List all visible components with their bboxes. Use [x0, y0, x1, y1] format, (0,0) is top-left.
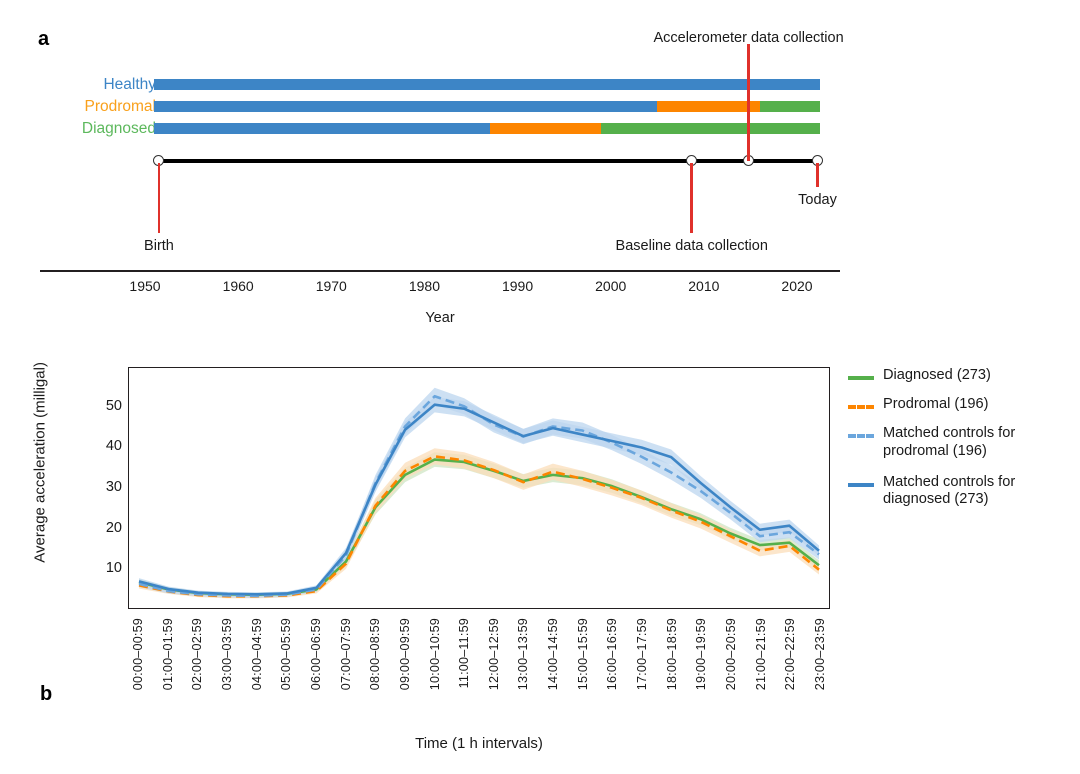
event-label-accelerometer: Accelerometer data collection — [653, 30, 843, 46]
panel-a: a Healthy Prodromal Diagnosed BirthBasel… — [0, 0, 1080, 335]
panel-b-label: b — [40, 683, 52, 706]
event-marker-baseline — [690, 163, 693, 233]
legend-label: Prodromal (196) — [883, 396, 988, 414]
event-label-birth: Birth — [144, 238, 174, 254]
timeline-segment-diagnosed — [760, 101, 821, 112]
event-label-today: Today — [798, 192, 837, 208]
confidence-band-prodromal-196 — [139, 448, 819, 598]
x-tick-16: 16:00–16:59 — [605, 618, 619, 690]
chart-legend: Diagnosed (273)Prodromal (196)Matched co… — [848, 367, 1078, 522]
panel-b: b Average acceleration (milligal) 102030… — [0, 335, 1080, 774]
year-tick-2000: 2000 — [595, 278, 626, 294]
timeline-segment-prodromal — [657, 101, 759, 112]
legend-swatch-line-icon — [848, 399, 874, 415]
legend-line-glyph — [848, 434, 874, 438]
y-tick-40: 40 — [88, 438, 122, 454]
legend-label: Diagnosed (273) — [883, 367, 991, 385]
x-tick-5: 05:00–05:59 — [279, 618, 293, 690]
x-axis-ticks: 00:00–00:5901:00–01:5902:00–02:5903:00–0… — [128, 618, 830, 728]
timeline-segment-diagnosed — [601, 123, 820, 134]
legend-line-glyph — [848, 376, 874, 380]
x-tick-11: 11:00–11:59 — [457, 618, 471, 688]
x-tick-23: 23:00–23:59 — [813, 618, 827, 690]
y-tick-10: 10 — [88, 560, 122, 576]
x-tick-7: 07:00–07:59 — [339, 618, 353, 690]
legend-line-glyph — [848, 483, 874, 487]
timeline-bar-prodromal — [154, 101, 820, 112]
year-tick-2010: 2010 — [688, 278, 719, 294]
x-tick-4: 04:00–04:59 — [250, 618, 264, 690]
legend-item-3[interactable]: Matched controls for diagnosed (273) — [848, 474, 1078, 510]
x-tick-15: 15:00–15:59 — [576, 618, 590, 690]
year-axis-line — [40, 270, 840, 272]
timeline-label-prodromal: Prodromal — [36, 98, 156, 116]
x-tick-2: 02:00–02:59 — [190, 618, 204, 690]
year-tick-1970: 1970 — [316, 278, 347, 294]
timeline-bar-diagnosed — [154, 123, 820, 134]
timeline-bar-healthy — [154, 79, 820, 90]
y-axis-title: Average acceleration (milligal) — [32, 347, 51, 577]
x-tick-13: 13:00–13:59 — [516, 618, 530, 690]
x-tick-9: 09:00–09:59 — [398, 618, 412, 690]
x-axis-title: Time (1 h intervals) — [128, 735, 830, 752]
line-chart-svg — [129, 368, 829, 608]
x-tick-14: 14:00–14:59 — [546, 618, 560, 690]
y-axis-ticks: 1020304050 — [84, 367, 122, 609]
year-tick-1980: 1980 — [409, 278, 440, 294]
legend-item-2[interactable]: Matched controls for prodromal (196) — [848, 425, 1078, 461]
x-tick-17: 17:00–17:59 — [635, 618, 649, 690]
timeline-segment-healthy — [154, 79, 820, 90]
timeline-segment-healthy — [154, 101, 657, 112]
legend-swatch-line-icon — [848, 428, 874, 444]
x-tick-6: 06:00–06:59 — [309, 618, 323, 690]
timeline-segment-prodromal — [490, 123, 602, 134]
year-tick-1990: 1990 — [502, 278, 533, 294]
x-tick-1: 01:00–01:59 — [161, 618, 175, 690]
event-marker-birth — [158, 163, 161, 233]
x-tick-19: 19:00–19:59 — [694, 618, 708, 690]
x-tick-21: 21:00–21:59 — [754, 618, 768, 690]
legend-swatch-line-icon — [848, 370, 874, 386]
legend-item-1[interactable]: Prodromal (196) — [848, 396, 1078, 415]
legend-label: Matched controls for prodromal (196) — [883, 425, 1078, 461]
timeline-label-healthy: Healthy — [36, 76, 156, 94]
plot-area — [128, 367, 830, 609]
panel-a-label: a — [38, 28, 49, 51]
line-diagnosed-273 — [139, 460, 819, 595]
year-tick-2020: 2020 — [781, 278, 812, 294]
y-tick-50: 50 — [88, 398, 122, 414]
x-tick-3: 03:00–03:59 — [220, 618, 234, 690]
event-marker-today — [816, 163, 819, 187]
x-tick-20: 20:00–20:59 — [724, 618, 738, 690]
y-tick-20: 20 — [88, 520, 122, 536]
legend-item-0[interactable]: Diagnosed (273) — [848, 367, 1078, 386]
legend-label: Matched controls for diagnosed (273) — [883, 474, 1078, 510]
x-tick-10: 10:00–10:59 — [428, 618, 442, 690]
legend-line-glyph — [848, 405, 874, 409]
year-tick-1950: 1950 — [129, 278, 160, 294]
year-axis-title: Year — [0, 310, 880, 326]
event-label-baseline: Baseline data collection — [616, 238, 768, 254]
x-tick-12: 12:00–12:59 — [487, 618, 501, 690]
timeline-segment-healthy — [154, 123, 489, 134]
y-tick-30: 30 — [88, 479, 122, 495]
year-tick-1960: 1960 — [223, 278, 254, 294]
x-tick-18: 18:00–18:59 — [665, 618, 679, 690]
x-tick-0: 00:00–00:59 — [131, 618, 145, 690]
x-tick-8: 08:00–08:59 — [368, 618, 382, 690]
x-tick-22: 22:00–22:59 — [783, 618, 797, 690]
timeline-axis — [159, 159, 818, 163]
timeline-label-diagnosed: Diagnosed — [36, 120, 156, 138]
event-marker-accelerometer — [747, 44, 750, 161]
legend-swatch-line-icon — [848, 477, 874, 493]
